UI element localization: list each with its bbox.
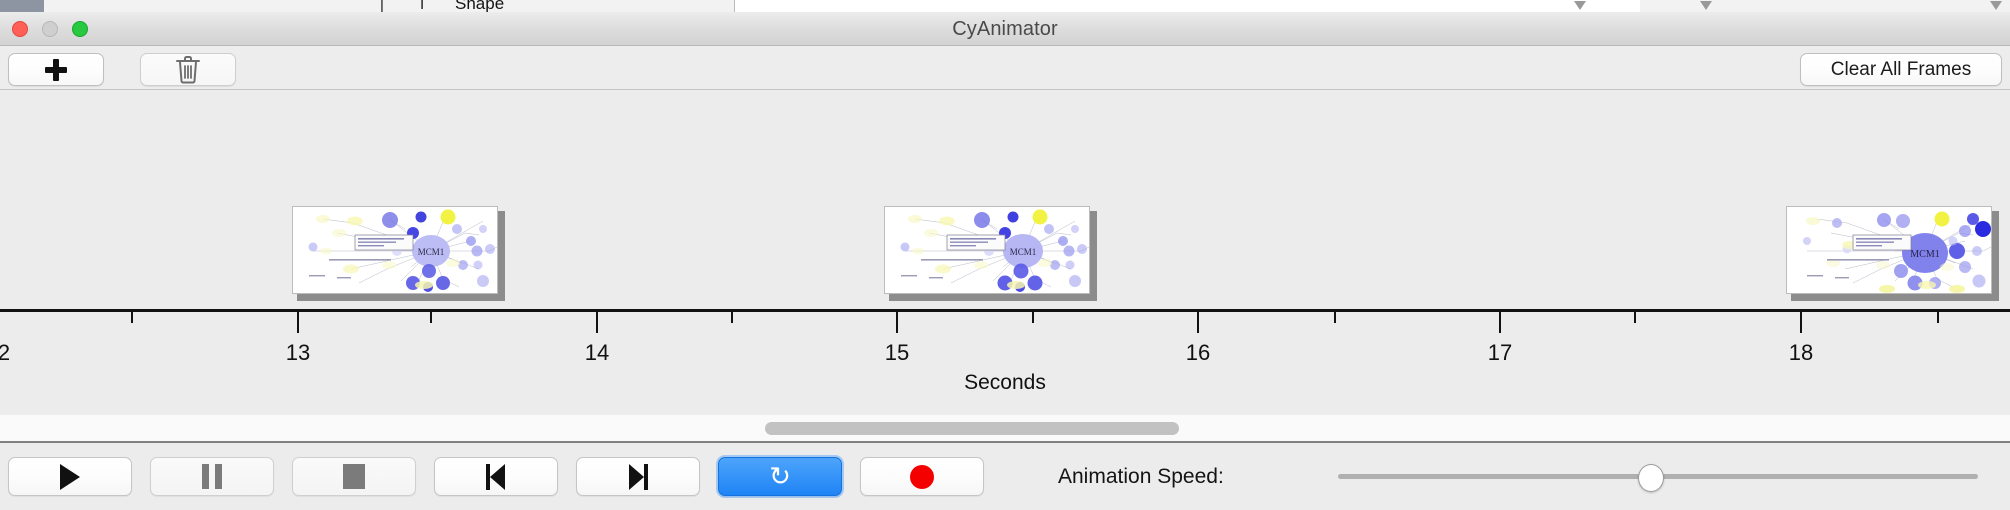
timeline-tick-minor: [131, 312, 133, 323]
timeline-tick-minor: [1937, 312, 1939, 323]
background-window-sidebar: [0, 0, 44, 12]
background-tab: [44, 0, 165, 12]
background-tab: [1640, 0, 1751, 12]
slider-knob[interactable]: [1638, 464, 1664, 492]
background-window-strip: | I Shape: [0, 0, 2010, 12]
stop-icon: [343, 464, 365, 489]
add-frame-button[interactable]: [8, 53, 104, 86]
timeline-tick-label: 14: [585, 340, 609, 366]
stop-button[interactable]: [292, 457, 416, 496]
record-icon: [910, 465, 934, 489]
background-tab: [294, 0, 365, 12]
previous-frame-button[interactable]: [434, 457, 558, 496]
timeline-tick-label: 13: [286, 340, 310, 366]
pause-icon: [202, 464, 222, 489]
timeline-tick-label: 17: [1488, 340, 1512, 366]
animation-speed-slider[interactable]: [1338, 457, 1978, 496]
plus-icon: [45, 59, 67, 81]
timeline-tick-label: 15: [885, 340, 909, 366]
timeline-frame-thumbnail[interactable]: MCM1: [1786, 206, 1999, 301]
frame-network-image: MCM1: [884, 206, 1090, 294]
chevron-down-icon: [1700, 1, 1712, 10]
timeline-tick-major: [1499, 312, 1501, 333]
center-node-label: MCM1: [418, 247, 445, 257]
timeline-frame-thumbnail[interactable]: MCM1: [884, 206, 1097, 301]
timeline-tick-major: [596, 312, 598, 333]
background-tab: [614, 0, 735, 12]
center-node-label: MCM1: [1910, 249, 1939, 260]
center-node-label: MCM1: [1010, 247, 1037, 257]
timeline-axis-title: Seconds: [0, 371, 2010, 395]
timeline-tick-label: 18: [1789, 340, 1813, 366]
titlebar: CyAnimator: [0, 12, 2010, 46]
timeline-tick-minor: [1032, 312, 1034, 323]
play-icon: [60, 464, 80, 490]
timeline-tick-major: [1800, 312, 1802, 333]
skip-previous-icon: [484, 464, 508, 490]
pause-button[interactable]: [150, 457, 274, 496]
timeline-axis-line: [0, 309, 2010, 312]
timeline-tick-major: [896, 312, 898, 333]
chevron-down-icon: [1990, 1, 2002, 10]
background-glyph: I: [420, 0, 424, 12]
animation-speed-label: Animation Speed:: [1058, 457, 1224, 496]
timeline-frame-thumbnail[interactable]: MCM1: [292, 206, 505, 301]
timeline-tick-minor: [1634, 312, 1636, 323]
timeline-tick-major: [1197, 312, 1199, 333]
clear-all-frames-button[interactable]: Clear All Frames: [1800, 53, 2002, 86]
frame-network-image: MCM1: [292, 206, 498, 294]
cyanimator-window: | I Shape CyAnimator Clear All Frames: [0, 0, 2010, 510]
record-button[interactable]: [860, 457, 984, 496]
window-title: CyAnimator: [0, 12, 2010, 46]
timeline-hscrollbar[interactable]: [0, 415, 2010, 443]
playback-controlbar: ↻ Animation Speed:: [0, 443, 2010, 510]
background-tab: [164, 0, 295, 12]
skip-next-icon: [626, 464, 650, 490]
scrollbar-thumb[interactable]: [765, 422, 1179, 435]
timeline-panel[interactable]: MCM1: [0, 90, 2010, 415]
timeline-tick-label: 16: [1186, 340, 1210, 366]
clear-all-frames-label: Clear All Frames: [1831, 59, 1971, 81]
background-glyph: |: [380, 0, 384, 12]
timeline-tick-label: 2: [0, 340, 10, 366]
network-graph: MCM1: [885, 207, 1089, 293]
chevron-down-icon: [1574, 1, 1586, 10]
delete-frame-button[interactable]: [140, 53, 236, 86]
background-tab: [1860, 0, 2010, 12]
trash-icon: [175, 55, 201, 85]
loop-icon: ↻: [769, 464, 791, 490]
timeline-tick-major: [297, 312, 299, 333]
frame-network-image: MCM1: [1786, 206, 1992, 294]
network-graph: MCM1: [1787, 207, 1991, 293]
next-frame-button[interactable]: [576, 457, 700, 496]
network-graph: MCM1: [293, 207, 497, 293]
loop-button[interactable]: ↻: [718, 457, 842, 496]
background-tab: [1750, 0, 1861, 12]
timeline-tick-minor: [1334, 312, 1336, 323]
timeline-tick-minor: [430, 312, 432, 323]
timeline-tick-minor: [731, 312, 733, 323]
background-shape-label: Shape: [455, 0, 504, 12]
toolbar: Clear All Frames: [0, 46, 2010, 90]
play-button[interactable]: [8, 457, 132, 496]
